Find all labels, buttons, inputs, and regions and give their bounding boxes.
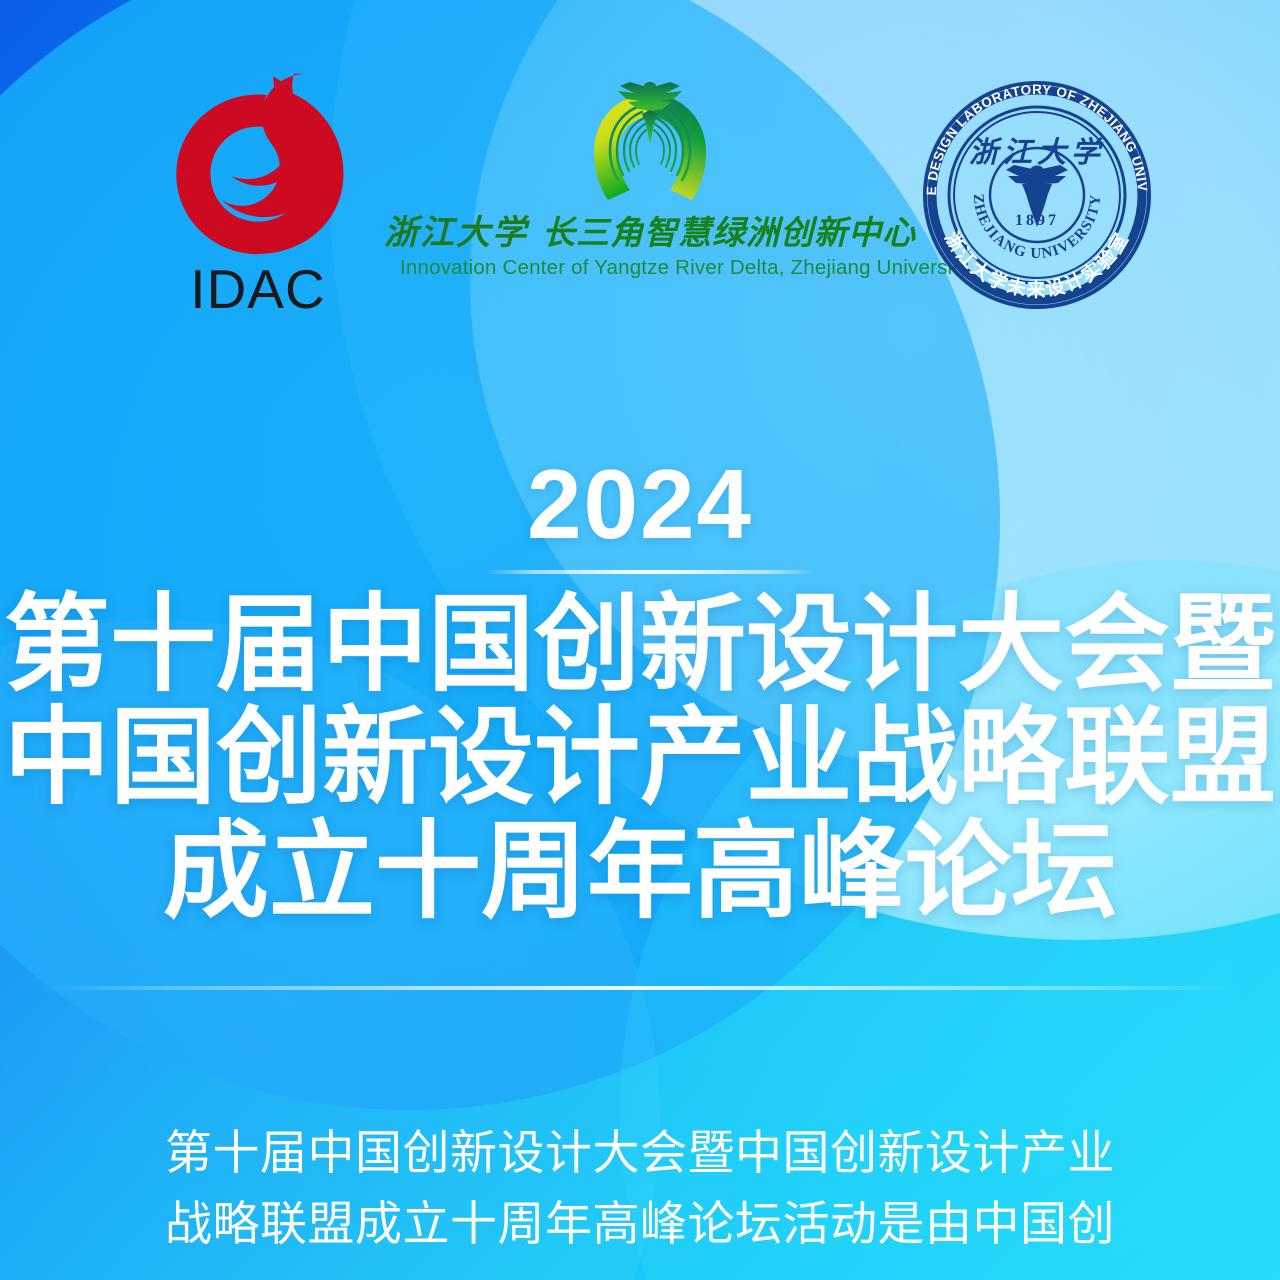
footer-line-1: 第十届中国创新设计大会暨中国创新设计产业 [0, 1118, 1280, 1189]
seal-inner-cn-text: 浙江大学 [969, 136, 1105, 169]
innovation-center-cn-center: 长三角智慧绿洲创新中心 [542, 216, 916, 249]
idac-wordmark: IDAC [128, 262, 388, 317]
title-line-1: 第十届中国创新设计大会暨 [0, 588, 1280, 701]
poster-canvas: IDAC [0, 0, 1280, 1280]
title-line-2: 中国创新设计产业战略联盟 [0, 701, 1280, 814]
title-line-3: 成立十周年高峰论坛 [0, 815, 1280, 928]
divider-under-year [486, 570, 816, 574]
main-title: 第十届中国创新设计大会暨 中国创新设计产业战略联盟 成立十周年高峰论坛 [0, 588, 1280, 928]
idac-logo: IDAC [128, 68, 388, 317]
innovation-center-cn-name: 浙江大学 长三角智慧绿洲创新中心 [400, 216, 900, 251]
innovation-center-cn-university: 浙江大学 [384, 217, 528, 251]
year-container: 2024 [0, 455, 1280, 553]
idac-swirl-icon [163, 68, 353, 258]
divider-above-footer [40, 986, 1240, 990]
innovation-center-logo: 浙江大学 长三角智慧绿洲创新中心 Innovation Center of Ya… [400, 72, 900, 280]
seal-outer-cn-text: 浙江大学未来设计实验室 [940, 228, 1134, 301]
zju-seal-icon: FUTURE DESIGN LABORATORY OF ZHEJIANG UNI… [912, 70, 1162, 320]
footer-line-2: 战略联盟成立十周年高峰论坛活动是由中国创 [0, 1189, 1280, 1260]
footer-description: 第十届中国创新设计大会暨中国创新设计产业 战略联盟成立十周年高峰论坛活动是由中国… [0, 1118, 1280, 1261]
phoenix-arc-icon [574, 72, 726, 212]
logo-strip: IDAC [0, 68, 1280, 348]
innovation-center-en-name: Innovation Center of Yangtze River Delta… [400, 256, 900, 280]
future-design-lab-logo: FUTURE DESIGN LABORATORY OF ZHEJIANG UNI… [912, 70, 1162, 320]
year-label: 2024 [0, 455, 1280, 553]
svg-text:浙江大学未来设计实验室: 浙江大学未来设计实验室 [940, 228, 1134, 301]
seal-founded-year: 1897 [1015, 212, 1059, 229]
